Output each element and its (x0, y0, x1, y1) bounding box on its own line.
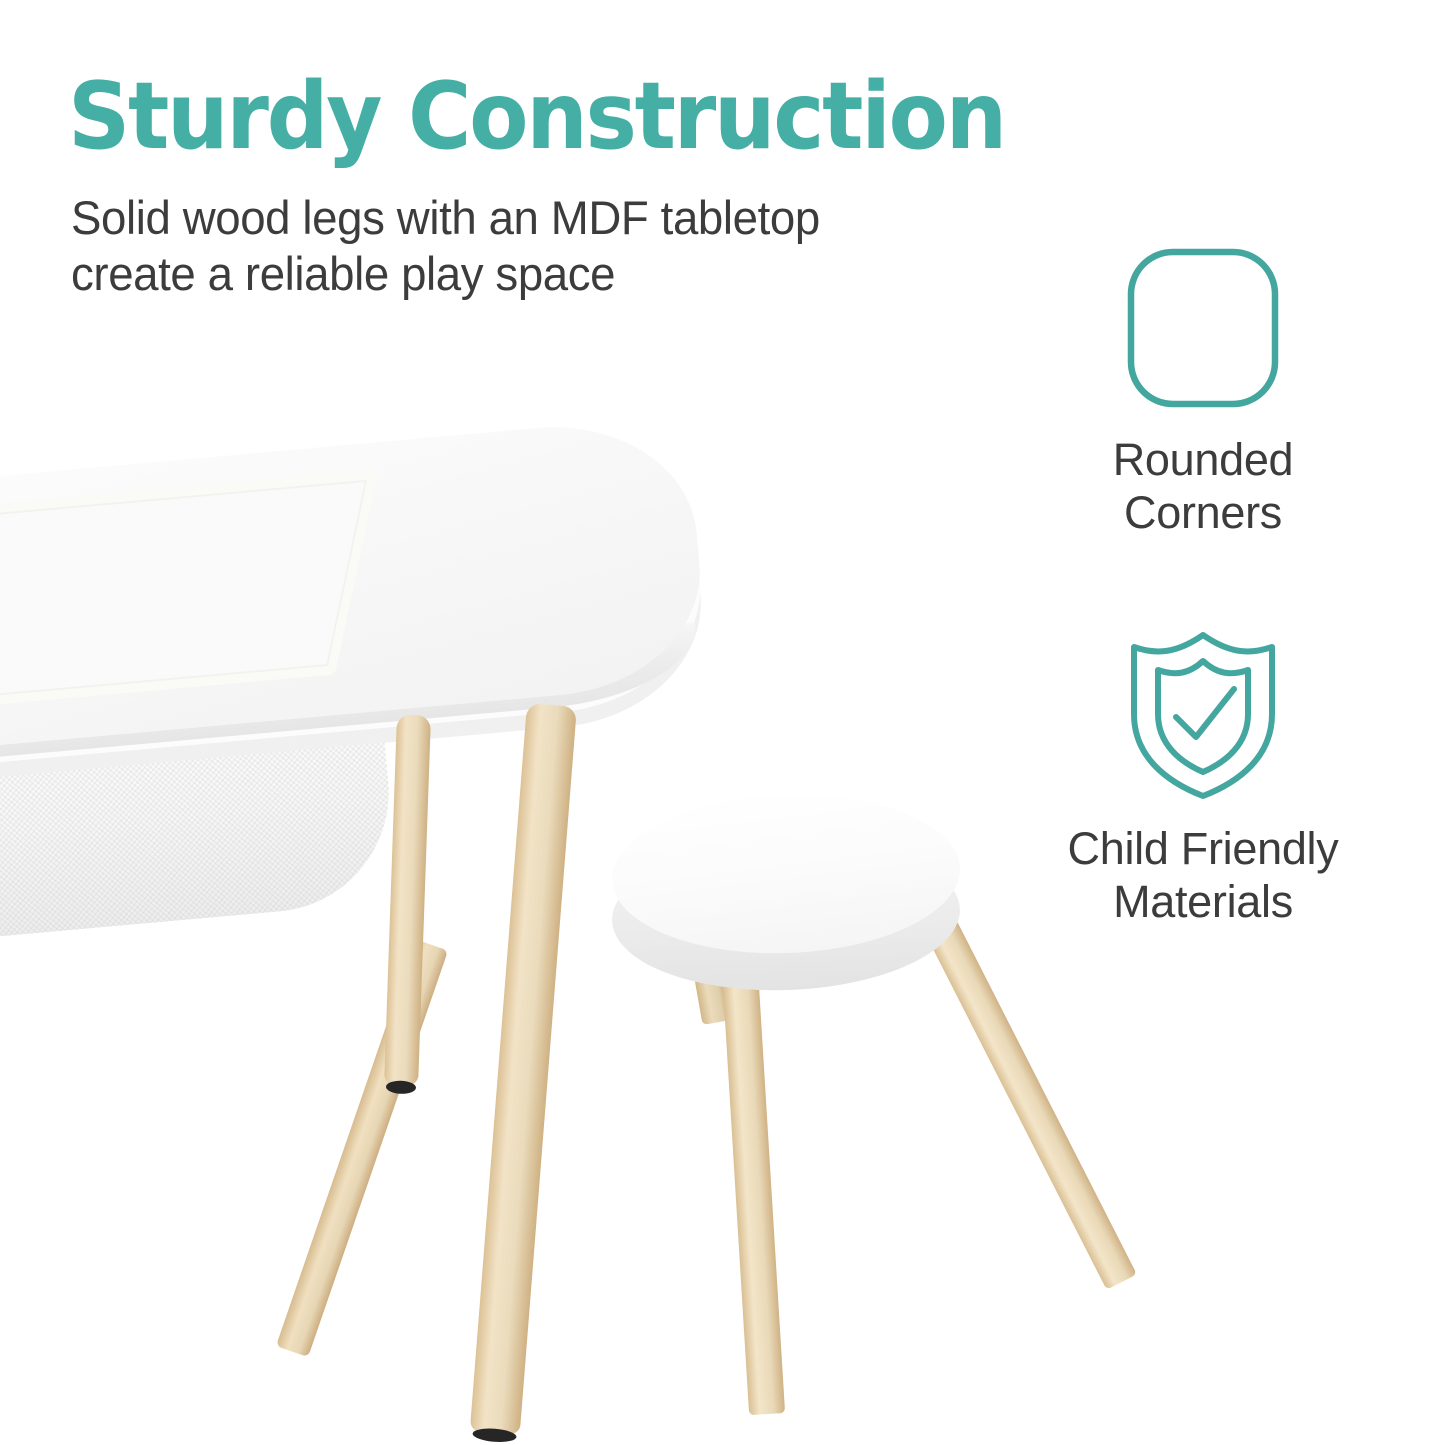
feature-caption-line-2: Corners (1003, 486, 1403, 539)
feature-caption-line-1: Rounded (1003, 433, 1403, 486)
feature-caption-line-2: Materials (1003, 875, 1403, 928)
feature-caption: Child Friendly Materials (1003, 822, 1403, 928)
table-leg-right (470, 703, 577, 1435)
table-leg-back-left (276, 939, 448, 1357)
table-leg-rod (384, 714, 431, 1085)
feature-rounded-corners: Rounded Corners (1003, 243, 1403, 539)
rounded-square-icon (1003, 243, 1403, 413)
feature-caption-line-1: Child Friendly (1003, 822, 1403, 875)
table-leg-rod (470, 703, 577, 1435)
product-photo (0, 400, 1100, 1445)
table-leg-left (384, 714, 431, 1085)
subtitle-line-1: Solid wood legs with an MDF tabletop (71, 190, 944, 246)
subtitle-line-2: create a reliable play space (71, 246, 944, 302)
shield-check-icon (1003, 622, 1403, 804)
page-title: Sturdy Construction (68, 68, 961, 164)
infographic-canvas: Sturdy Construction Solid wood legs with… (0, 0, 1445, 1445)
feature-child-friendly-materials: Child Friendly Materials (1003, 622, 1403, 928)
page-subtitle: Solid wood legs with an MDF tabletop cre… (71, 190, 944, 302)
feature-caption: Rounded Corners (1003, 433, 1403, 539)
